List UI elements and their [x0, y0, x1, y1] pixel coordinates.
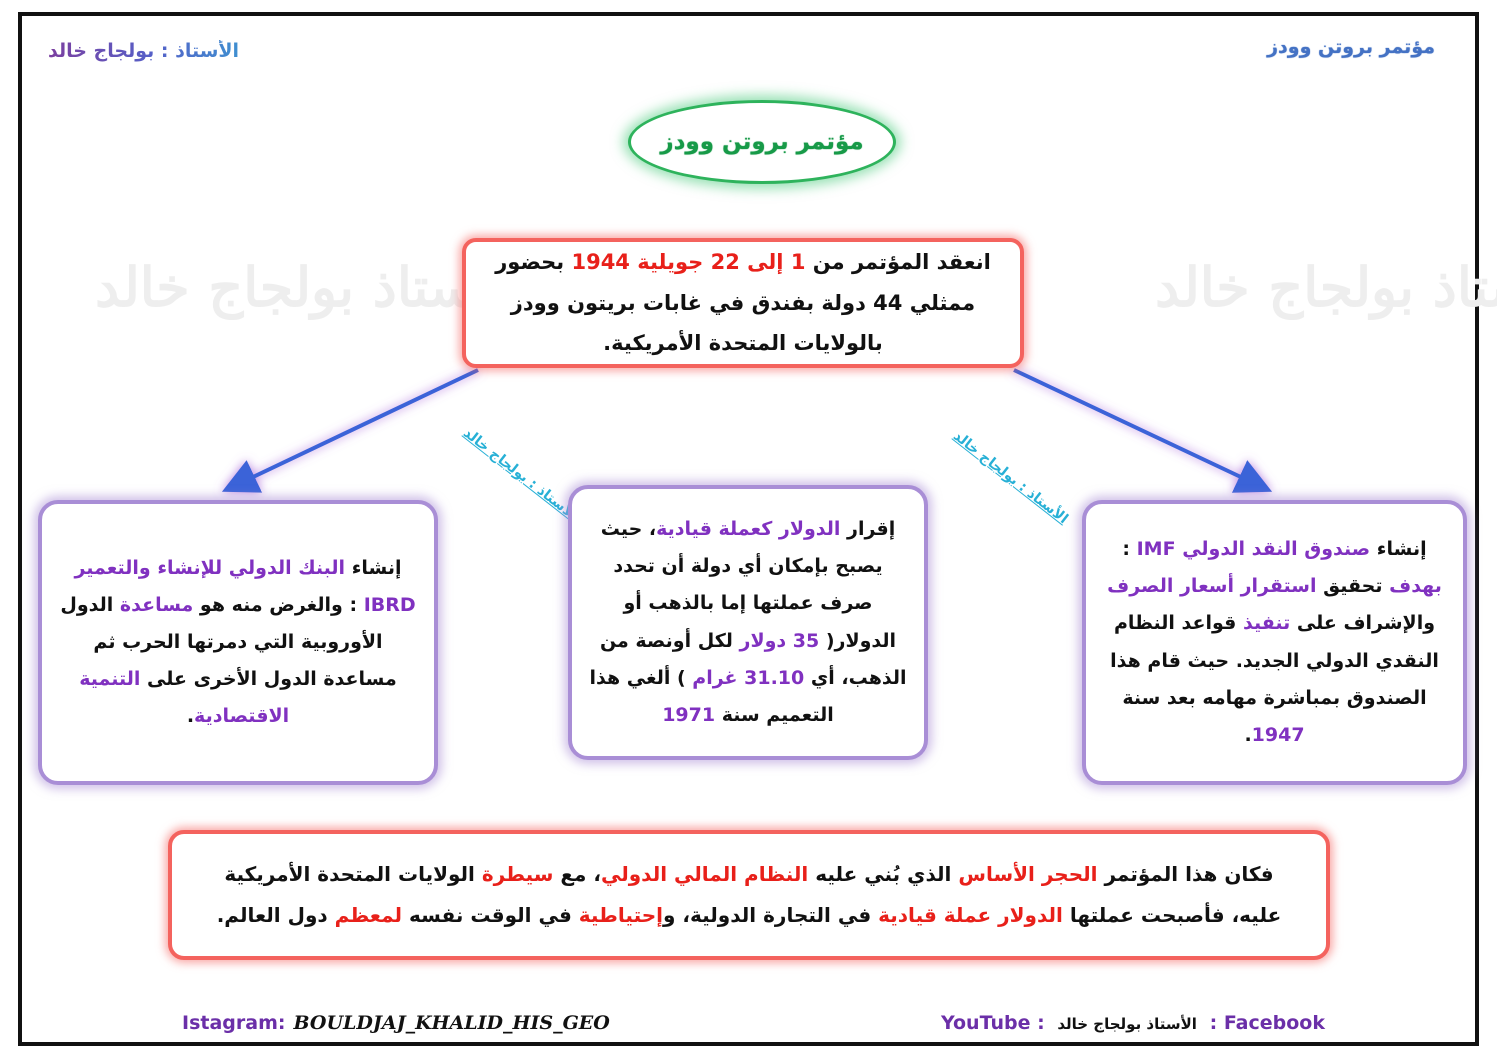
footer-social[interactable]: YouTube : الأستاذ بولجاج خالد : Facebook [941, 1012, 1325, 1034]
instagram-handle: BOULDJAJ_KHALID_HIS_GEO [293, 1012, 609, 1034]
branch-text-dollar: إقرار الدولار كعملة قيادية، حيث يصبح بإم… [588, 511, 908, 733]
youtube-label: YouTube [941, 1012, 1030, 1034]
conclusion-text: فكان هذا المؤتمر الحجر الأساس الذي بُني … [198, 854, 1300, 936]
watermark-small-left: الأستاذ : بولجاج خالد [460, 425, 581, 524]
title-node-label: مؤتمر بروتن وودز [660, 129, 863, 155]
facebook-label: Facebook [1224, 1012, 1325, 1034]
branch-text-imf: إنشاء صندوق النقد الدولي IMF : بهدف تحقي… [1102, 531, 1447, 753]
watermark-small-right: الأستاذ : بولجاج خالد [950, 428, 1071, 527]
watermark-right: الأستاذ بولجاج خالد [1155, 255, 1497, 319]
footer-separator-1: : [1037, 1012, 1045, 1034]
instagram-label: Istagram: [182, 1012, 285, 1034]
diagram-page: الأستاذ بولجاج خالد الأستاذ بولجاج خالد … [0, 0, 1497, 1058]
footer-instagram[interactable]: Istagram:BOULDJAJ_KHALID_HIS_GEO [182, 1012, 610, 1034]
title-node[interactable]: مؤتمر بروتن وودز [628, 100, 896, 184]
header-teacher-name: الأستاذ : بولجاج خالد [48, 40, 239, 62]
header-title: مؤتمر بروتن وودز [1267, 36, 1435, 58]
branch-text-ibrd: إنشاء البنك الدولي للإنشاء والتعمير IBRD… [58, 550, 418, 735]
main-info-text: انعقد المؤتمر من 1 إلى 22 جويلية 1944 بح… [488, 242, 998, 365]
watermark-left: الأستاذ بولجاج خالد [95, 255, 521, 319]
branch-box-ibrd[interactable]: إنشاء البنك الدولي للإنشاء والتعمير IBRD… [38, 500, 438, 785]
branch-box-dollar[interactable]: إقرار الدولار كعملة قيادية، حيث يصبح بإم… [568, 485, 928, 760]
social-account-name: الأستاذ بولجاج خالد [1057, 1015, 1197, 1033]
main-info-box[interactable]: انعقد المؤتمر من 1 إلى 22 جويلية 1944 بح… [462, 238, 1024, 368]
conclusion-box[interactable]: فكان هذا المؤتمر الحجر الأساس الذي بُني … [168, 830, 1330, 960]
footer-separator-2: : [1210, 1012, 1218, 1034]
branch-box-imf[interactable]: إنشاء صندوق النقد الدولي IMF : بهدف تحقي… [1082, 500, 1467, 785]
